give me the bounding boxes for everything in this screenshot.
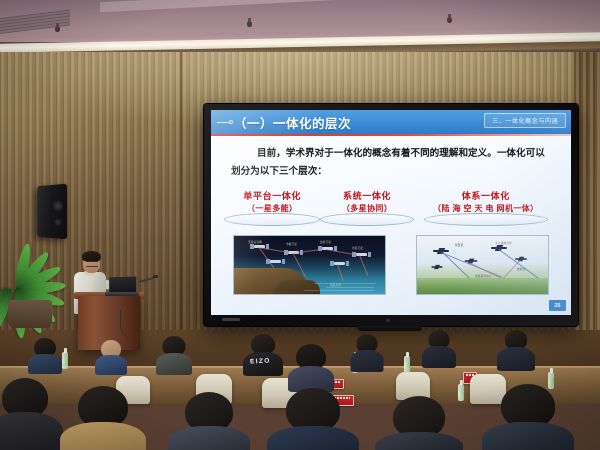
figure-group: 天基信息网 中继卫星 侦察卫星 导航卫星 海基平台 — [233, 235, 549, 295]
glasses-icon — [86, 261, 98, 267]
pillar-disc — [224, 213, 320, 226]
body-line-2: 划分为以下三个层次： — [231, 166, 327, 177]
audience-member — [30, 338, 60, 370]
sprinkler-icon — [247, 21, 252, 26]
audience-member — [96, 340, 126, 372]
audience-member-front — [68, 386, 138, 450]
water-bottle — [458, 384, 464, 401]
tv-power-led-icon — [386, 319, 390, 322]
figure-satellite-network: 天基信息网 中继卫星 侦察卫星 导航卫星 海基平台 — [233, 235, 386, 295]
water-bottle — [404, 356, 410, 373]
pillar-item: 体系一体化 （陆 海 空 天 电 网机一体） — [433, 189, 539, 226]
tv-stand — [358, 326, 422, 331]
slide-title-bar: （一）一体化的层次 三、一体化概念与内涵 — [211, 110, 571, 134]
audience-member — [292, 344, 330, 384]
microphone-icon — [153, 275, 158, 278]
slide-page-badge: 25 — [549, 300, 566, 311]
cable — [120, 310, 147, 340]
loudspeaker-icon — [37, 184, 67, 240]
slide-title: （一）一体化的层次 — [234, 113, 351, 132]
audience-member — [158, 336, 190, 370]
laptop-base — [105, 292, 139, 296]
pillar-item: 单平台一体化 （一星多能） — [243, 189, 301, 226]
pillar-title: 系统一体化 — [342, 189, 392, 202]
figure-platform-network: 预警机 无人侦察平台 数据链 地面指挥中心 — [416, 235, 549, 295]
pillar-disc — [320, 213, 414, 226]
pillar-disc — [424, 213, 548, 226]
pillar-title: 体系一体化 — [433, 189, 539, 202]
audience-member — [424, 330, 454, 362]
audience-member-front — [384, 396, 454, 450]
sprinkler-icon — [447, 17, 452, 22]
pillar-group: 单平台一体化 （一星多能） 系统一体化 （多星协同） 体系一体化 （陆 海 空 … — [223, 189, 559, 226]
pillar-title: 单平台一体化 — [243, 189, 301, 202]
conference-hall-photo: （一）一体化的层次 三、一体化概念与内涵 目前，学术界对于一体化的概念有着不同的… — [0, 0, 600, 450]
slide-section-badge: 三、一体化概念与内涵 — [484, 113, 566, 128]
slide-body: 目前，学术界对于一体化的概念有着不同的理解和定义。一体化可以 划分为以下三个层次… — [231, 145, 551, 180]
plant-pot — [8, 300, 52, 328]
slide: （一）一体化的层次 三、一体化概念与内涵 目前，学术界对于一体化的概念有着不同的… — [211, 110, 571, 315]
page-number: 25 — [555, 303, 561, 309]
audience-member — [352, 334, 382, 366]
audience-member-front — [0, 378, 56, 450]
title-underline — [211, 134, 571, 136]
tv-brand-logo — [222, 318, 240, 321]
audience-member-front — [492, 384, 564, 450]
section-badge-label: 三、一体化概念与内涵 — [492, 116, 558, 125]
presentation-display[interactable]: （一）一体化的层次 三、一体化概念与内涵 目前，学术界对于一体化的概念有着不同的… — [204, 104, 578, 326]
jacket-logo-text: EIZO — [250, 357, 271, 365]
audience-member-front — [276, 388, 350, 450]
audience-member — [500, 330, 532, 364]
audience-member-front — [176, 392, 242, 450]
pillar-item: 系统一体化 （多星协同） — [342, 189, 392, 226]
water-bottle — [62, 352, 68, 369]
sprinkler-icon — [55, 26, 60, 31]
title-marker-icon — [217, 118, 234, 127]
body-line-1: 目前，学术界对于一体化的概念有着不同的理解和定义。一体化可以 — [231, 145, 551, 163]
